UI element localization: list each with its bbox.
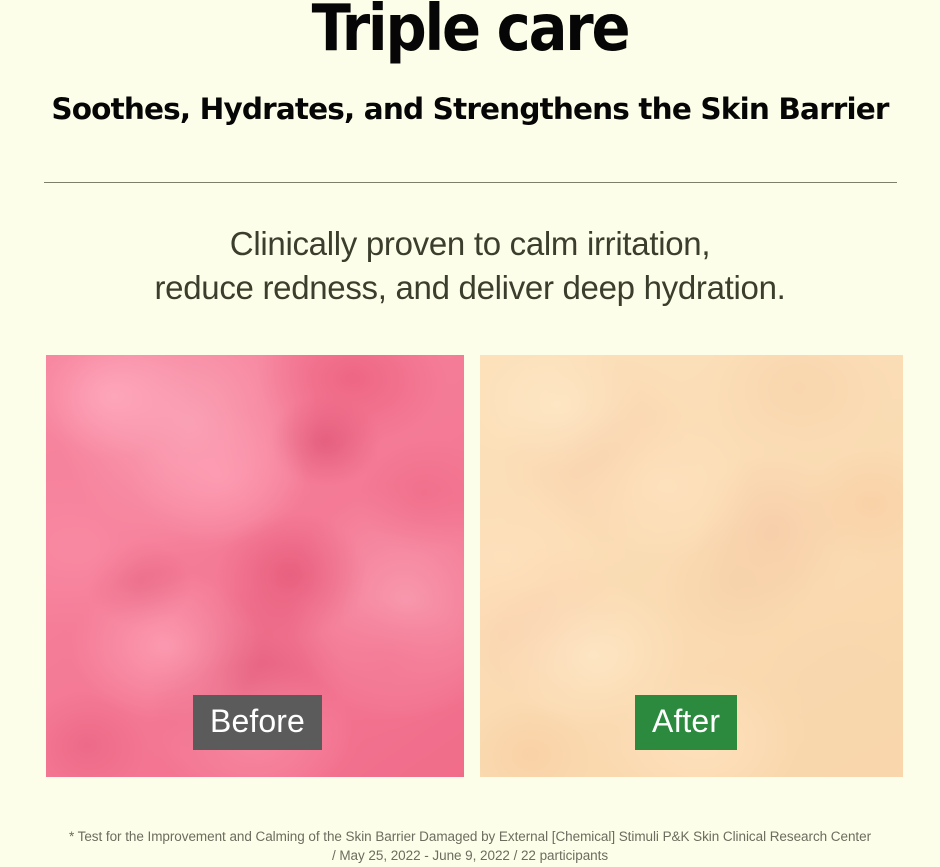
footnote-line-2: / May 25, 2022 - June 9, 2022 / 22 parti… [0,846,940,865]
before-badge: Before [193,695,322,750]
page-subtitle: Soothes, Hydrates, and Strengthens the S… [0,92,940,127]
before-panel: Before [46,355,464,777]
claim-text: Clinically proven to calm irritation, re… [0,222,940,310]
claim-text-line-1: Clinically proven to calm irritation, [0,222,940,266]
after-badge: After [635,695,737,750]
claim-text-line-2: reduce redness, and deliver deep hydrati… [0,266,940,310]
footnote: * Test for the Improvement and Calming o… [0,827,940,865]
page-title: Triple care [0,0,940,66]
footnote-line-1: * Test for the Improvement and Calming o… [0,827,940,846]
before-after-comparison: Before After [46,355,903,777]
horizontal-divider [44,182,897,183]
after-panel: After [480,355,903,777]
